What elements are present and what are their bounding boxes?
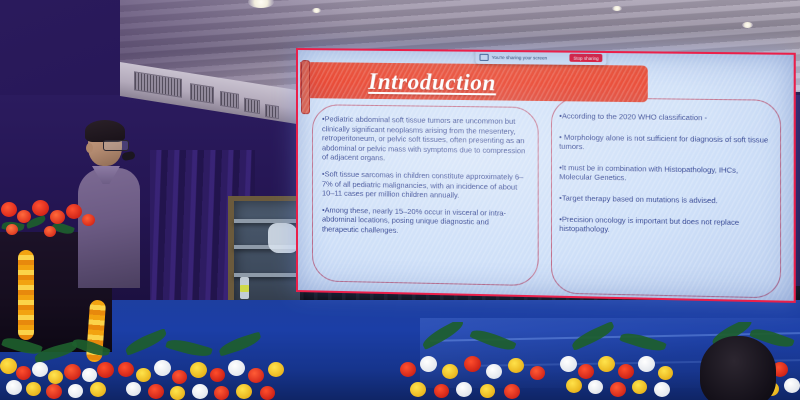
alcove-object [268,223,298,253]
ac-vent-3 [220,91,239,109]
ceiling-light-5 [742,22,753,28]
flowerbed-mid-right [400,322,570,400]
flowerbed-center [118,322,288,400]
bullet-right-1: •According to the 2020 WHO classificatio… [559,111,770,123]
ceiling-light-4 [612,6,622,11]
bullet-left-3: •Among these, nearly 15–20% occur in vis… [322,205,526,238]
slide-left-bullets: •Pediatric abdominal soft tissue tumors … [322,114,526,245]
slide-right-bullets: •According to the 2020 WHO classificatio… [559,111,770,249]
speaker-body [78,168,140,288]
slide-title-tab [301,60,310,114]
bullet-right-4: •Target therapy based on mutations is ad… [559,193,770,206]
alcove-bottle-label [240,285,249,292]
ac-vent-1 [134,71,182,98]
slide-title: Introduction [368,69,496,97]
ceiling-light-2 [312,8,321,13]
screenshot-root: SVICCAR Sri Venkateswara Institute of Ca… [0,0,800,400]
bullet-right-5: •Precision oncology is important but doe… [559,214,770,237]
audience-head-foreground [700,336,776,400]
ac-vent-5 [265,104,279,119]
speaker-hair [85,120,125,142]
projection-screen: Introduction •Pediatric abdominal soft t… [296,48,796,303]
speaker-glasses-icon [103,140,129,151]
bullet-right-2: • Morphology alone is not sufficient for… [559,132,770,155]
bullet-left-1: •Pediatric abdominal soft tissue tumors … [322,114,526,165]
share-message: You're sharing your screen [492,54,567,60]
bullet-right-3: •It must be in combination with Histopat… [559,163,770,186]
speaker-ear [86,143,93,153]
ac-vent-4 [244,98,260,115]
bullet-left-2: •Soft tissue sarcomas in children consti… [322,169,526,201]
ac-vent-2 [190,83,214,104]
stop-sharing-button[interactable]: Stop sharing [570,54,603,63]
screen-share-icon [479,53,488,60]
flowerbed-left [0,322,120,400]
screen-share-banner: You're sharing your screen Stop sharing [475,50,606,65]
